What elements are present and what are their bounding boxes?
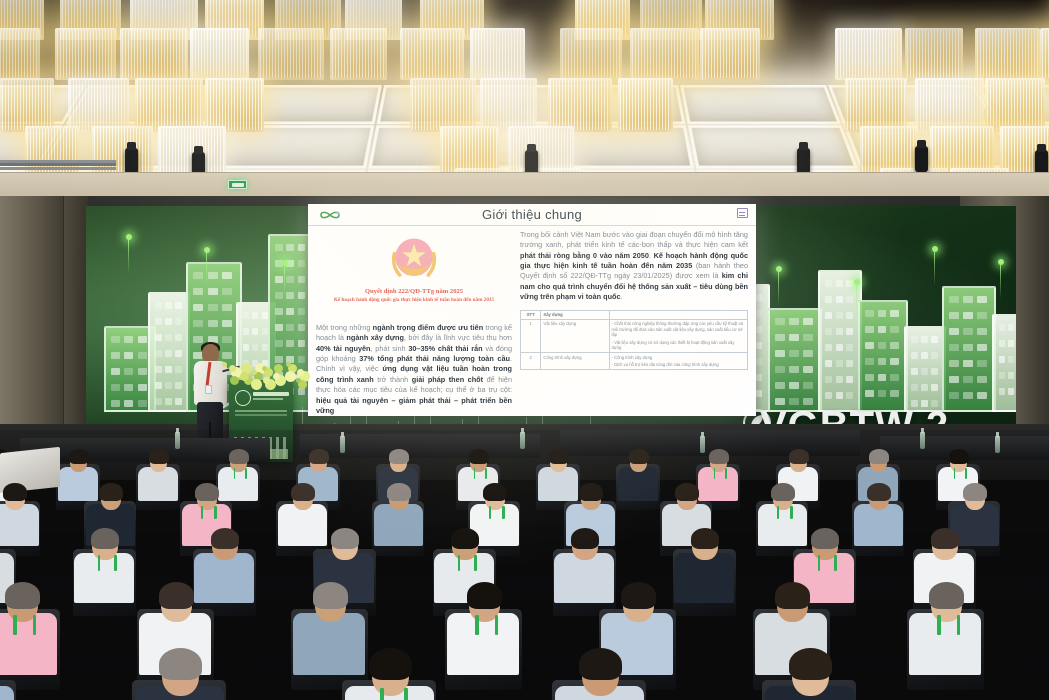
backdrop-window — [252, 312, 258, 319]
audience-hair — [99, 483, 123, 501]
table-header-cell — [609, 310, 747, 319]
backdrop-window — [138, 400, 147, 407]
backdrop-window — [921, 336, 928, 343]
wall-seam — [0, 172, 1049, 173]
backdrop-window — [878, 342, 887, 349]
backdrop-window — [1008, 388, 1014, 395]
backdrop-window — [977, 296, 987, 303]
backdrop-window — [836, 344, 843, 351]
flower — [274, 364, 283, 373]
backdrop-window — [775, 318, 785, 325]
slide-table: STTXây dựng 1Vật liệu xây dựng- Chất thả… — [520, 310, 748, 371]
audience-hair — [709, 449, 729, 464]
backdrop-window — [155, 398, 162, 405]
presentation-screen: Giới thiệu chung Quyết định 222/QĐ-TTg n… — [308, 204, 756, 416]
backdrop-window — [175, 302, 182, 309]
chandelier-panel — [860, 126, 917, 174]
backdrop-window — [878, 374, 887, 381]
attendee-lanyard — [485, 468, 487, 479]
audience-hair — [789, 449, 809, 464]
audience-hair — [483, 483, 507, 501]
audience-torso — [218, 467, 259, 502]
backdrop-window — [111, 384, 120, 391]
emblem-block — [316, 230, 512, 284]
backdrop-window — [165, 318, 172, 325]
audience-hair — [159, 648, 202, 680]
chandelier-panel — [68, 78, 129, 132]
backdrop-window — [931, 352, 938, 359]
backdrop-window — [963, 360, 973, 367]
audience-hair — [291, 483, 315, 501]
audience-torso — [447, 613, 520, 675]
water-bottle — [520, 432, 525, 449]
flower — [273, 373, 280, 380]
audience-hair — [621, 582, 656, 608]
podium-subtext — [253, 398, 283, 400]
backdrop-window — [825, 312, 832, 319]
backdrop-light-dot — [854, 279, 860, 285]
backdrop-window — [138, 368, 147, 375]
backdrop-window — [286, 292, 294, 299]
audience-area — [0, 430, 1049, 700]
backdrop-window — [949, 344, 959, 351]
backdrop-window — [878, 358, 887, 365]
backdrop-window — [836, 280, 843, 287]
exit-sign-icon — [228, 180, 247, 189]
ceiling-coffer — [688, 125, 858, 169]
backdrop-window — [977, 392, 987, 399]
backdrop-window — [298, 244, 306, 251]
table-row: 1Vật liệu xây dựng- Chất thải công nghiệ… — [521, 319, 748, 352]
audience-hair — [467, 582, 502, 608]
audience-hair — [389, 449, 409, 464]
backdrop-window — [275, 292, 283, 299]
backdrop-window — [921, 384, 928, 391]
lighting-truss — [0, 160, 116, 163]
backdrop-window — [999, 340, 1005, 347]
backdrop-window — [138, 352, 147, 359]
backdrop-window — [243, 344, 249, 351]
attendee-lanyard — [114, 555, 117, 571]
backdrop-window — [846, 360, 853, 367]
backdrop-building — [148, 292, 190, 412]
audience-hair — [869, 449, 889, 464]
audience-hair — [867, 483, 891, 501]
backdrop-window — [963, 344, 973, 351]
chandelier-panel — [480, 78, 537, 132]
stage-spotlight — [797, 148, 810, 174]
vietnam-national-emblem — [387, 234, 441, 284]
backdrop-window — [298, 276, 306, 283]
backdrop-window — [825, 296, 832, 303]
backdrop-window — [275, 340, 283, 347]
backdrop-window — [911, 384, 918, 391]
chandelier-panel — [930, 126, 994, 174]
water-bottle — [920, 432, 925, 449]
table-header-cell: STT — [521, 310, 541, 319]
audience-hair — [963, 483, 987, 501]
audience-torso — [674, 553, 733, 603]
backdrop-window — [165, 366, 172, 373]
backdrop-window — [789, 334, 799, 341]
backdrop-window — [825, 360, 832, 367]
audience-torso — [0, 613, 57, 675]
chandelier-panel — [560, 28, 622, 80]
backdrop-window — [949, 392, 959, 399]
attendee-lanyard — [214, 506, 216, 519]
backdrop-window — [963, 328, 973, 335]
backdrop-window — [825, 344, 832, 351]
backdrop-window — [222, 336, 232, 343]
backdrop-window — [175, 382, 182, 389]
audience-torso — [374, 504, 423, 545]
table-row: 2Công trình xây dựng- Công trình xây dựn… — [521, 353, 748, 370]
audience-hair — [775, 582, 810, 608]
chandelier-panel — [548, 78, 612, 132]
audience-hair — [931, 528, 960, 550]
attendee-lanyard — [937, 615, 940, 635]
backdrop-window — [243, 312, 249, 319]
chandelier-panel — [618, 78, 673, 132]
audience-hair — [571, 528, 600, 550]
backdrop-window — [865, 310, 874, 317]
audience-torso — [194, 553, 253, 603]
table-header-cell: Xây dựng — [541, 310, 609, 319]
table-cell: Vật liệu xây dựng — [541, 319, 609, 352]
chandelier-panel — [630, 28, 699, 80]
backdrop-window — [789, 318, 799, 325]
table-cell: 1 — [521, 319, 541, 352]
flower — [240, 372, 249, 381]
backdrop-window — [836, 296, 843, 303]
backdrop-window — [193, 272, 203, 279]
backdrop-window — [175, 366, 182, 373]
backdrop-window — [138, 336, 147, 343]
left-wall-panel — [0, 196, 64, 426]
backdrop-window — [890, 310, 899, 317]
backdrop-window — [155, 382, 162, 389]
audience-hair — [331, 528, 360, 550]
flower — [251, 379, 262, 390]
backdrop-window — [155, 334, 162, 341]
backdrop-window — [262, 312, 268, 319]
backdrop-window — [890, 390, 899, 397]
flower — [297, 369, 304, 376]
audience-hair — [675, 483, 699, 501]
backdrop-window — [825, 280, 832, 287]
backdrop-window — [949, 328, 959, 335]
audience-torso — [538, 467, 579, 502]
chandelier-panel — [975, 28, 1040, 80]
backdrop-window — [825, 328, 832, 335]
flower — [222, 362, 227, 367]
audience-hair — [579, 648, 622, 680]
audience-hair — [949, 449, 969, 464]
flower — [262, 366, 267, 371]
audience-hair — [549, 449, 569, 464]
audience-hair — [5, 582, 40, 608]
audience-hair — [211, 528, 240, 550]
emblem-caption-1: Quyết định 222/QĐ-TTg năm 2025 — [316, 288, 512, 295]
attendee-lanyard — [495, 615, 498, 635]
backdrop-building — [942, 286, 996, 412]
backdrop-window — [275, 308, 283, 315]
backdrop-window — [949, 360, 959, 367]
backdrop-window — [165, 334, 172, 341]
backdrop-window — [836, 376, 843, 383]
backdrop-window — [963, 376, 973, 383]
backdrop-window — [803, 318, 813, 325]
table-header-row: STTXây dựng — [521, 310, 748, 319]
backdrop-window — [789, 366, 799, 373]
backdrop-window — [175, 334, 182, 341]
backdrop-window — [155, 318, 162, 325]
audience-hair — [91, 528, 120, 550]
audience-torso — [554, 553, 613, 603]
audience-hair — [691, 528, 720, 550]
water-bottle — [995, 436, 1000, 453]
backdrop-window — [878, 390, 887, 397]
backdrop-light-dot — [282, 260, 288, 266]
audience-hair — [313, 582, 348, 608]
chandelier-panel — [835, 28, 902, 80]
backdrop-window — [756, 294, 762, 301]
audience-torso — [854, 504, 903, 545]
backdrop-window — [949, 376, 959, 383]
backdrop-window — [846, 392, 853, 399]
backdrop-window — [963, 312, 973, 319]
attendee-lanyard — [834, 555, 837, 571]
backdrop-window — [298, 308, 306, 315]
backdrop-window — [931, 368, 938, 375]
backdrop-window — [275, 244, 283, 251]
backdrop-window — [1008, 372, 1014, 379]
chandelier-panel — [470, 28, 525, 80]
chandelier-panel — [700, 28, 760, 80]
backdrop-window — [999, 356, 1005, 363]
attendee-lanyard — [965, 468, 967, 479]
stage-spotlight — [125, 148, 138, 174]
backdrop-window — [890, 358, 899, 365]
ceiling-coffer — [680, 85, 841, 124]
backdrop-window — [911, 336, 918, 343]
table-cell: - Công trình xây dựng- Dịch vụ hỗ trợ ké… — [609, 353, 747, 370]
backdrop-window — [165, 350, 172, 357]
audience-torso — [618, 467, 659, 502]
chandelier-panel — [1040, 28, 1049, 80]
backdrop-window — [865, 326, 874, 333]
backdrop-window — [262, 328, 268, 335]
water-bottle — [175, 432, 180, 449]
backdrop-window — [878, 310, 887, 317]
audience-torso — [909, 613, 982, 675]
audience-hair — [159, 582, 194, 608]
backdrop-window — [803, 350, 813, 357]
backdrop-window — [836, 392, 843, 399]
attendee-lanyard — [725, 468, 727, 479]
backdrop-window — [756, 310, 762, 317]
attendee-lanyard — [404, 688, 408, 700]
audience-torso — [758, 504, 807, 545]
backdrop-window — [977, 360, 987, 367]
slide-right-column: Trong bối cảnh Việt Nam bước vào giai đo… — [520, 230, 748, 370]
chandelier-panel — [205, 78, 264, 132]
backdrop-window — [298, 340, 306, 347]
backdrop-window — [789, 382, 799, 389]
flower — [252, 370, 257, 375]
backdrop-window — [921, 352, 928, 359]
backdrop-window — [222, 288, 232, 295]
backdrop-window — [803, 334, 813, 341]
backdrop-window — [208, 272, 218, 279]
backdrop-window — [298, 324, 306, 331]
audience-hair — [69, 449, 89, 464]
chandelier-panel — [905, 28, 963, 80]
backdrop-window — [999, 324, 1005, 331]
podium-divider — [235, 410, 287, 412]
backdrop-building — [768, 308, 822, 412]
chandelier-panel — [330, 28, 387, 80]
backdrop-window — [890, 374, 899, 381]
backdrop-window — [890, 326, 899, 333]
backdrop-window — [208, 288, 218, 295]
backdrop-window — [1008, 324, 1014, 331]
backdrop-window — [865, 342, 874, 349]
attendee-lanyard — [33, 615, 36, 635]
backdrop-window — [865, 358, 874, 365]
backdrop-window — [111, 400, 120, 407]
audience-hair — [229, 449, 249, 464]
attendee-lanyard — [474, 555, 477, 571]
audience-hair — [149, 449, 169, 464]
backdrop-window — [175, 398, 182, 405]
backdrop-window — [756, 390, 762, 397]
audience-hair — [3, 483, 27, 501]
audience-torso — [698, 467, 739, 502]
chandelier-panel — [135, 78, 203, 132]
presenter-badge — [205, 385, 212, 394]
backdrop-window — [825, 376, 832, 383]
slide-left-column: Quyết định 222/QĐ-TTg năm 2025 Kế hoạch … — [316, 230, 512, 416]
backdrop-window — [111, 368, 120, 375]
backdrop-window — [222, 272, 232, 279]
backdrop-window — [977, 312, 987, 319]
left-wall-panel-2 — [64, 196, 88, 426]
slide-right-paragraph: Trong bối cảnh Việt Nam bước vào giai đo… — [520, 230, 748, 303]
backdrop-window — [155, 350, 162, 357]
backdrop-window — [208, 320, 218, 327]
backdrop-window — [775, 366, 785, 373]
backdrop-window — [175, 350, 182, 357]
backdrop-light-dot — [932, 246, 938, 252]
backdrop-window — [298, 260, 306, 267]
backdrop-window — [846, 344, 853, 351]
attendee-lanyard — [380, 688, 384, 700]
backdrop-building — [858, 300, 908, 412]
backdrop-window — [286, 244, 294, 251]
backdrop-window — [803, 366, 813, 373]
backdrop-window — [138, 384, 147, 391]
audience-hair — [469, 449, 489, 464]
backdrop-light-dot — [776, 266, 782, 272]
chandelier-panel — [0, 28, 40, 80]
audience-torso — [58, 467, 99, 502]
backdrop-window — [756, 358, 762, 365]
backdrop-window — [165, 382, 172, 389]
table-cell: 2 — [521, 353, 541, 370]
backdrop-window — [756, 374, 762, 381]
backdrop-window — [949, 312, 959, 319]
backdrop-window — [193, 320, 203, 327]
chandelier-panel — [400, 28, 464, 80]
backdrop-window — [275, 276, 283, 283]
audience-hair — [789, 648, 832, 680]
backdrop-window — [921, 368, 928, 375]
backdrop-window — [999, 372, 1005, 379]
audience-hair — [195, 483, 219, 501]
podium-logo-text — [253, 392, 289, 396]
backdrop-window — [999, 388, 1005, 395]
chandelier-panel — [410, 78, 476, 132]
audience-hair — [811, 528, 840, 550]
audience-hair — [771, 483, 795, 501]
backdrop-window — [165, 302, 172, 309]
backdrop-building — [904, 326, 946, 412]
chandelier-panel — [0, 78, 54, 132]
backdrop-window — [977, 344, 987, 351]
backdrop-window — [286, 276, 294, 283]
backdrop-window — [298, 292, 306, 299]
backdrop-window — [193, 336, 203, 343]
backdrop-window — [775, 382, 785, 389]
flower — [296, 378, 301, 383]
attendee-lanyard — [790, 506, 792, 519]
flower — [263, 377, 270, 384]
emblem-caption-2: Kế hoạch hành động quốc gia thực hiện ki… — [316, 297, 512, 303]
chandelier-panel — [985, 78, 1045, 132]
backdrop-window — [124, 400, 133, 407]
chandelier-panel — [25, 126, 79, 174]
attendee-lanyard — [13, 615, 16, 635]
flower — [230, 376, 239, 385]
backdrop-building — [992, 314, 1016, 412]
chandelier-panel — [440, 126, 499, 174]
slide-title: Giới thiệu chung — [308, 207, 756, 222]
audience-hair — [451, 528, 480, 550]
slide-page-icon — [737, 208, 748, 218]
water-bottle — [340, 436, 345, 453]
audience-torso — [278, 504, 327, 545]
backdrop-window — [977, 376, 987, 383]
backdrop-window — [208, 304, 218, 311]
chandelier-panel — [845, 78, 907, 132]
backdrop-window — [193, 304, 203, 311]
backdrop-window — [878, 326, 887, 333]
backdrop-window — [111, 336, 120, 343]
backdrop-window — [949, 296, 959, 303]
backdrop-window — [155, 366, 162, 373]
backdrop-window — [931, 384, 938, 391]
attendee-lanyard — [957, 615, 960, 635]
backdrop-window — [846, 376, 853, 383]
backdrop-window — [825, 392, 832, 399]
chandelier-panel — [92, 126, 153, 174]
backdrop-window — [124, 352, 133, 359]
backdrop-window — [124, 384, 133, 391]
backdrop-window — [846, 328, 853, 335]
backdrop-window — [911, 368, 918, 375]
podium-flower-arrangement — [222, 362, 304, 388]
